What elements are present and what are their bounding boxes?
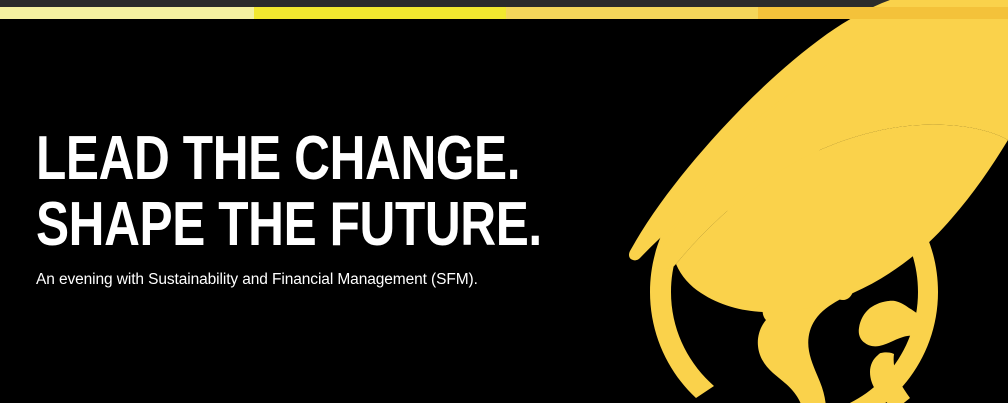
top-color-bar xyxy=(0,7,1008,19)
leaf-lower-icon xyxy=(629,0,1008,260)
leaf-main-icon xyxy=(657,2,1008,269)
central-america-icon xyxy=(833,278,853,300)
headline-line-1: LEAD THE CHANGE. xyxy=(36,128,484,190)
globe-ring-icon xyxy=(650,148,938,403)
globe-with-leaf-logo xyxy=(538,0,1008,403)
subtitle: An evening with Sustainability and Finan… xyxy=(36,270,596,290)
africa-north-icon xyxy=(859,301,927,347)
south-america-icon xyxy=(758,266,853,403)
leaf-underside-icon xyxy=(676,125,1008,312)
color-segment-golden-yellow xyxy=(506,7,758,19)
leaf-body-icon xyxy=(748,22,1008,144)
color-segment-amber-yellow xyxy=(758,7,1008,19)
color-segment-pale-yellow xyxy=(0,7,254,19)
color-segment-bright-yellow xyxy=(254,7,506,19)
north-america-icon xyxy=(727,166,877,310)
event-banner: LEAD THE CHANGE. SHAPE THE FUTURE. An ev… xyxy=(0,0,1008,403)
headline-line-2: SHAPE THE FUTURE. xyxy=(36,194,484,256)
text-block: LEAD THE CHANGE. SHAPE THE FUTURE. An ev… xyxy=(36,128,596,290)
africa-south-icon xyxy=(870,352,910,403)
leaf-upper-icon xyxy=(736,0,1008,129)
top-dark-strip xyxy=(0,0,1008,7)
